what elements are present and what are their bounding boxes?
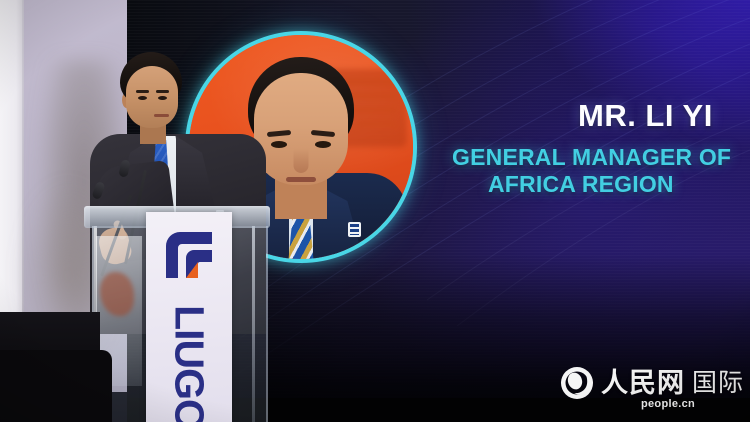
microphone-head-1 (91, 181, 105, 200)
microphone-head-2 (118, 159, 130, 177)
portrait-eye-right (315, 141, 331, 148)
speaker-name-text: MR. LI YI (578, 98, 713, 134)
podium-brand-sign: LIUGO (146, 212, 232, 422)
watermark-brand-cn: 人民网 (601, 368, 685, 398)
speaker-role-line-2: AFRICA REGION (488, 171, 674, 198)
portrait-mouth (286, 177, 316, 182)
liugong-wordmark: LIUGO (166, 293, 213, 422)
watermark-brand-url: people.cn (641, 398, 695, 410)
watermark-section-cn: 国际 (692, 371, 744, 396)
liugong-logo-icon (162, 228, 218, 282)
speaker-role-line-1: GENERAL MANAGER OF (452, 144, 731, 171)
portrait-nose (294, 149, 309, 173)
screenshot-stage: MR. LI YI GENERAL MANAGER OF AFRICA REGI… (0, 0, 750, 422)
watermark: 人民网 people.cn 国际 (560, 366, 744, 400)
portrait-lapel-badge (348, 222, 361, 237)
globe-swirl-icon (560, 366, 594, 400)
podium-edge-right (252, 226, 255, 422)
stage-dark-base-front (0, 350, 112, 422)
